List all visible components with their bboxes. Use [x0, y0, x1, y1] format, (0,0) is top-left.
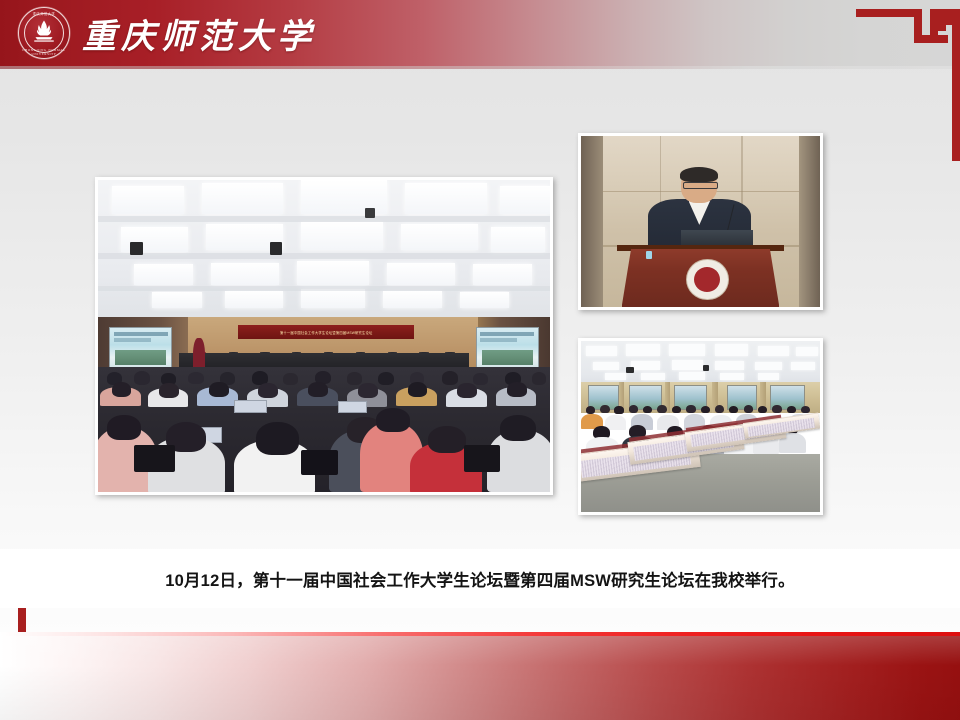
water-bottle — [646, 251, 652, 260]
photo-audience-seated[interactable] — [578, 338, 823, 515]
speaker-wall-left-edge — [581, 136, 603, 307]
photo-speaker-content — [581, 136, 820, 307]
speaker-wall-right-edge — [799, 136, 821, 307]
university-emblem-icon: 重庆师范大学 CHONGQING NORMAL UNIVERSITY — [18, 7, 70, 59]
university-name: 重庆师范大学 — [82, 6, 316, 60]
photo-conference-hall[interactable]: 第十一届中国社会工作大学生论坛暨第四届MSW研究生论坛 — [95, 177, 553, 495]
podium-university-emblem-icon — [686, 259, 729, 300]
hall-banner: 第十一届中国社会工作大学生论坛暨第四届MSW研究生论坛 — [238, 325, 414, 339]
hall-banner-text: 第十一届中国社会工作大学生论坛暨第四届MSW研究生论坛 — [280, 330, 373, 335]
emblem-arc-text-top: 重庆师范大学 — [18, 11, 70, 16]
photo-speaker-at-podium[interactable] — [578, 133, 823, 310]
hall-audience — [98, 367, 550, 492]
hall-projection-screen-right — [476, 327, 539, 371]
photo-audience-content — [581, 341, 820, 512]
page-header: 重庆师范大学 CHONGQING NORMAL UNIVERSITY 重庆师范大… — [0, 0, 960, 66]
hall-projection-screen-left — [109, 327, 172, 371]
speaker-hair — [680, 167, 718, 182]
corner-ornament-top-right-icon — [842, 9, 960, 161]
photo-conference-hall-content: 第十一届中国社会工作大学生论坛暨第四届MSW研究生论坛 — [98, 180, 550, 492]
speaker-glasses-icon — [683, 182, 718, 189]
footer-band-shading — [0, 636, 960, 720]
slide-root: 重庆师范大学 CHONGQING NORMAL UNIVERSITY 重庆师范大… — [0, 0, 960, 720]
podium-emblem-inner — [694, 267, 720, 292]
emblem-arc-text-bottom: CHONGQING NORMAL UNIVERSITY — [18, 48, 70, 56]
header-divider — [0, 66, 960, 69]
emblem-flame-glyph-icon — [31, 18, 57, 44]
caption-band: 10月12日，第十一届中国社会工作大学生论坛暨第四届MSW研究生论坛在我校举行。 — [0, 549, 960, 608]
slide-caption: 10月12日，第十一届中国社会工作大学生论坛暨第四届MSW研究生论坛在我校举行。 — [165, 567, 795, 591]
